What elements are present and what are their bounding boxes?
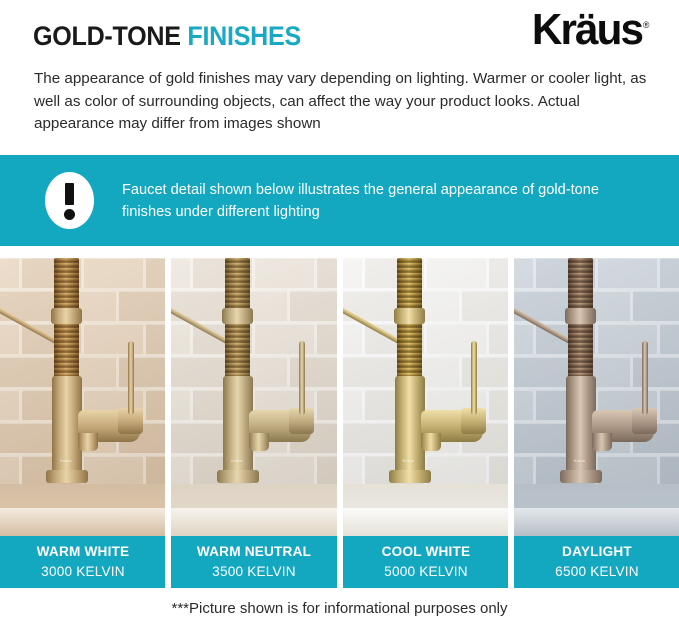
faucet-graphic: Kraus [343,258,508,536]
faucet-collar [51,308,82,324]
faucet-brand-mark: Kraus [574,458,585,463]
kraus-logo-text: Kräus [532,5,642,54]
gold-tone-finishes-infographic: GOLD-TONE FINISHES Kräus® The appearance… [0,0,679,632]
faucet-graphic: Kraus [0,258,165,536]
notice-banner: Faucet detail shown below illustrates th… [0,155,679,246]
faucet-spout-foot [592,433,612,451]
panel-label-kelvin: 3000 KELVIN [3,562,162,582]
panel-label-warm-neutral: WARM NEUTRAL 3500 KELVIN [171,536,336,588]
faucet-brand-mark: Kraus [60,458,71,463]
notice-text: Faucet detail shown below illustrates th… [122,179,642,223]
faucet-photo-daylight: Kraus [514,258,679,536]
faucet-spout-foot [78,433,98,451]
faucet-base-plate [217,470,259,483]
lighting-panel-cool-white[interactable]: Kraus COOL WHITE 5000 KELVIN [343,258,508,588]
faucet-handle-lever [642,341,648,415]
registered-trademark-icon: ® [643,20,649,30]
panel-label-kelvin: 5000 KELVIN [346,562,505,582]
faucet-photo-warm-neutral: Kraus [171,258,336,536]
panel-label-warm-white: WARM WHITE 3000 KELVIN [0,536,165,588]
exclamation-dot [64,209,75,220]
faucet-base-plate [46,470,88,483]
faucet-base-plate [560,470,602,483]
kraus-logo: Kräus® [532,8,649,52]
footer-disclaimer: ***Picture shown is for informational pu… [0,600,679,617]
exclamation-icon [45,172,94,229]
page-title-primary: GOLD-TONE [33,21,181,51]
lighting-panel-daylight[interactable]: Kraus DAYLIGHT 6500 KELVIN [514,258,679,588]
panel-label-kelvin: 3500 KELVIN [175,562,334,582]
faucet-brand-mark: Kraus [403,458,414,463]
panel-label-name: WARM NEUTRAL [175,543,334,562]
faucet-graphic: Kraus [514,258,679,536]
faucet-handle-lever [471,341,477,415]
faucet-base-plate [389,470,431,483]
lighting-panel-warm-neutral[interactable]: Kraus WARM NEUTRAL 3500 KELVIN [171,258,336,588]
faucet-collar [565,308,596,324]
lighting-comparison-row: Kraus WARM WHITE 3000 KELVIN [0,258,679,588]
faucet-brand-mark: Kraus [231,458,242,463]
faucet-collar [394,308,425,324]
panel-label-cool-white: COOL WHITE 5000 KELVIN [343,536,508,588]
panel-label-daylight: DAYLIGHT 6500 KELVIN [514,536,679,588]
panel-label-name: WARM WHITE [3,543,162,562]
page-title-accent: FINISHES [187,21,301,51]
panel-label-name: DAYLIGHT [517,543,676,562]
faucet-graphic: Kraus [171,258,336,536]
faucet-photo-cool-white: Kraus [343,258,508,536]
page-title: GOLD-TONE FINISHES [33,21,301,52]
lighting-panel-warm-white[interactable]: Kraus WARM WHITE 3000 KELVIN [0,258,165,588]
faucet-spout-foot [249,433,269,451]
faucet-spout-foot [421,433,441,451]
panel-label-kelvin: 6500 KELVIN [517,562,676,582]
faucet-handle-lever [128,341,134,415]
faucet-photo-warm-white: Kraus [0,258,165,536]
exclamation-bar [65,183,74,205]
header: GOLD-TONE FINISHES Kräus® The appearance… [0,0,679,155]
faucet-collar [222,308,253,324]
intro-paragraph: The appearance of gold finishes may vary… [34,68,656,136]
panel-label-name: COOL WHITE [346,543,505,562]
faucet-handle-lever [299,341,305,415]
